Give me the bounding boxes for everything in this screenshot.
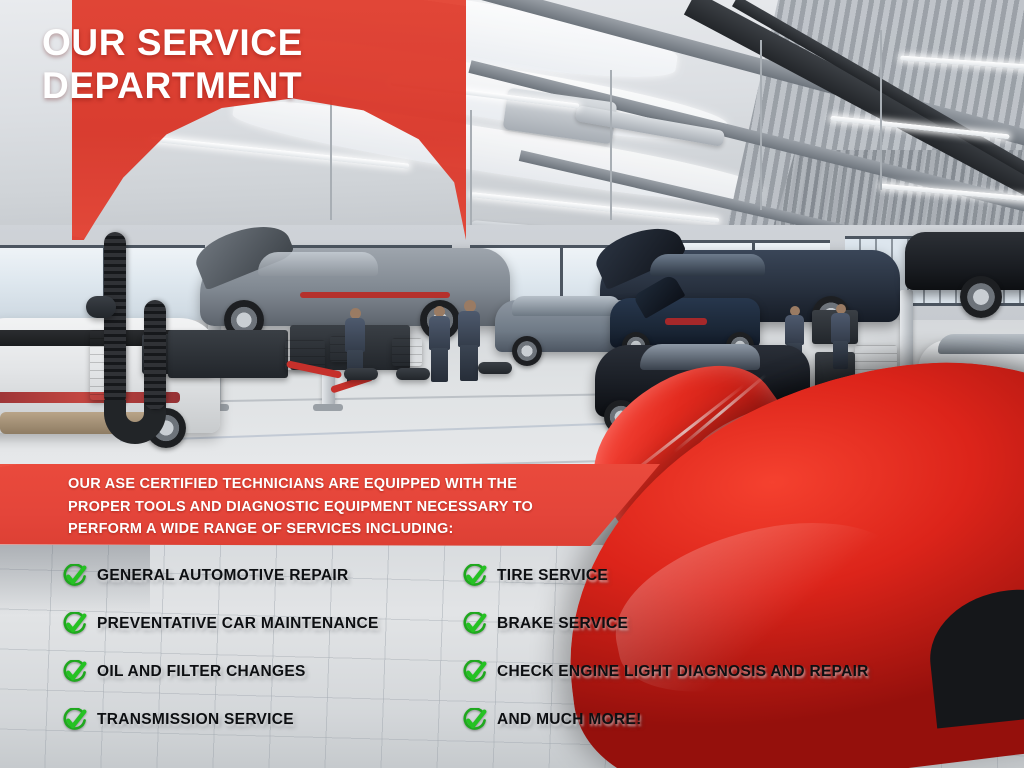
service-label: PREVENTATIVE CAR MAINTENANCE (97, 615, 379, 633)
car-taillight-band (300, 292, 450, 298)
hanger-rod (760, 40, 762, 210)
service-department-poster: B 20 UAJ OUR SERVICE DEPARTMENT OUR ASE … (0, 0, 1024, 768)
subtitle-line-3: PERFORM A WIDE RANGE OF SERVICES INCLUDI… (68, 518, 608, 541)
services-right-column: TIRE SERVICE BRAKE SERVICE (462, 552, 982, 744)
check-icon (62, 708, 87, 733)
check-icon (462, 564, 487, 589)
list-item: TRANSMISSION SERVICE (62, 696, 482, 744)
hanger-rod (330, 100, 332, 220)
check-icon (62, 660, 87, 685)
list-item: CHECK ENGINE LIGHT DIAGNOSIS AND REPAIR (462, 648, 982, 696)
subtitle-line-1: OUR ASE CERTIFIED TECHNICIANS ARE EQUIPP… (68, 473, 608, 496)
tire-on-floor (396, 368, 430, 380)
page-title: OUR SERVICE DEPARTMENT (42, 22, 372, 108)
check-icon (62, 612, 87, 637)
check-icon (462, 612, 487, 637)
car-window (650, 254, 765, 276)
services-left-column: GENERAL AUTOMOTIVE REPAIR PREVENTATIVE C… (62, 552, 482, 744)
exhaust-hose (144, 300, 166, 410)
list-item: PREVENTATIVE CAR MAINTENANCE (62, 600, 482, 648)
hose-nozzle (86, 296, 116, 318)
car-taillight (665, 318, 707, 325)
car-window (258, 252, 378, 276)
check-icon (462, 660, 487, 685)
service-label: TRANSMISSION SERVICE (97, 711, 294, 729)
car-wheel (512, 336, 542, 366)
list-item: BRAKE SERVICE (462, 600, 982, 648)
title-line-2: DEPARTMENT (42, 65, 372, 108)
list-item: TIRE SERVICE (462, 552, 982, 600)
hanger-rod (470, 110, 472, 240)
service-label: BRAKE SERVICE (497, 615, 628, 633)
hanger-rod (610, 70, 612, 220)
service-label: OIL AND FILTER CHANGES (97, 663, 306, 681)
check-icon (62, 564, 87, 589)
service-label: GENERAL AUTOMOTIVE REPAIR (97, 567, 349, 585)
workbench (168, 330, 288, 378)
subtitle-line-2: PROPER TOOLS AND DIAGNOSTIC EQUIPMENT NE… (68, 496, 608, 519)
tire-on-floor (478, 362, 512, 374)
service-label: CHECK ENGINE LIGHT DIAGNOSIS AND REPAIR (497, 663, 869, 681)
hanger-rod (880, 30, 882, 190)
list-item: GENERAL AUTOMOTIVE REPAIR (62, 552, 482, 600)
car-window (512, 296, 620, 316)
lift-base (313, 404, 343, 411)
tool-chest (392, 338, 422, 366)
subtitle-text: OUR ASE CERTIFIED TECHNICIANS ARE EQUIPP… (68, 473, 608, 541)
exhaust-hose (104, 232, 126, 407)
title-line-1: OUR SERVICE (42, 22, 372, 65)
service-label: TIRE SERVICE (497, 567, 608, 585)
list-item: OIL AND FILTER CHANGES (62, 648, 482, 696)
service-label: AND MUCH MORE! (497, 711, 642, 729)
car-window (938, 334, 1024, 354)
list-item: AND MUCH MORE! (462, 696, 982, 744)
car-wheel (960, 276, 1002, 318)
check-icon (462, 708, 487, 733)
services-list: GENERAL AUTOMOTIVE REPAIR PREVENTATIVE C… (0, 552, 1024, 752)
car-black-suv (905, 232, 1024, 290)
car-window (640, 344, 760, 370)
tire-on-floor (344, 368, 378, 380)
